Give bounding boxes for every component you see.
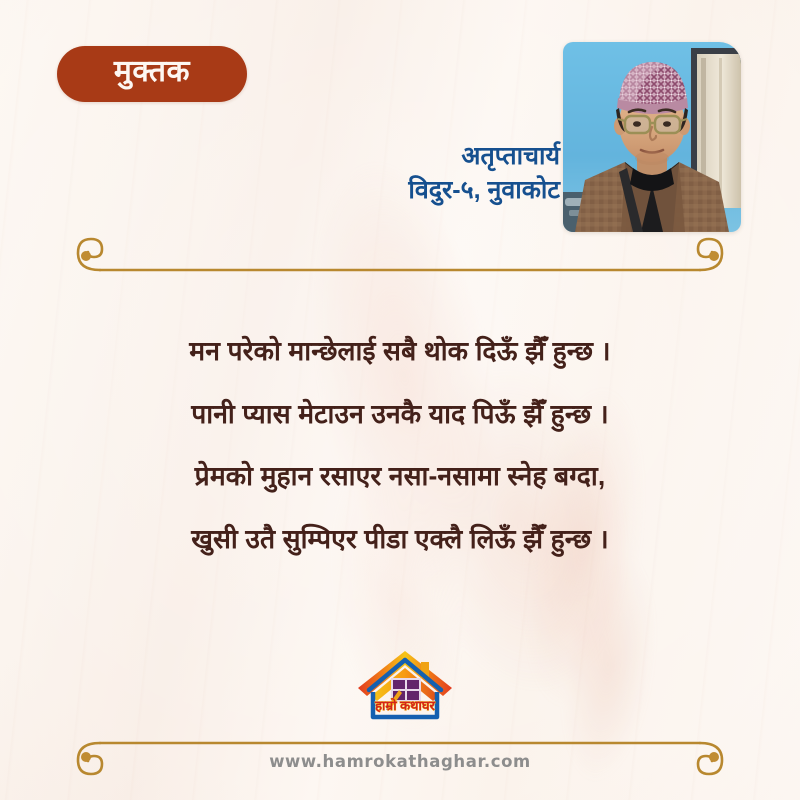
category-badge: मुक्तक (57, 46, 247, 102)
author-block: अतृप्ताचार्य विदुर-५, नुवाकोट (270, 140, 560, 208)
author-photo-image (563, 42, 741, 232)
poem-line: प्रेमको मुहान रसाएर नसा-नसामा स्नेह बग्द… (0, 463, 800, 490)
brand-logo-text: हाम्रो कथाघर (374, 698, 435, 713)
poem-line: पानी प्यास मेटाउन उनकै याद पिऊँ झैँ हुन्… (0, 401, 800, 428)
footer-website-url: www.hamrokathaghar.com (0, 752, 800, 771)
house-logo-icon: हाम्रो कथाघर (355, 648, 455, 720)
author-photo (563, 42, 741, 232)
author-name: अतृप्ताचार्य (270, 140, 560, 174)
poem-line: खुसी उतै सुम्पिएर पीडा एक्लै लिऊँ झैँ हु… (0, 526, 800, 553)
poetry-card: मुक्तक अतृप्ताचार्य विदुर-५, नुवाकोट (0, 0, 800, 800)
category-badge-label: मुक्तक (114, 57, 190, 91)
poem-line: मन परेको मान्छेलाई सबै थोक दिऊँ झैँ हुन्… (0, 338, 800, 365)
author-location: विदुर-५, नुवाकोट (270, 174, 560, 208)
poem-body: मन परेको मान्छेलाई सबै थोक दिऊँ झैँ हुन्… (0, 338, 800, 552)
brand-logo: हाम्रो कथाघर (355, 648, 455, 720)
